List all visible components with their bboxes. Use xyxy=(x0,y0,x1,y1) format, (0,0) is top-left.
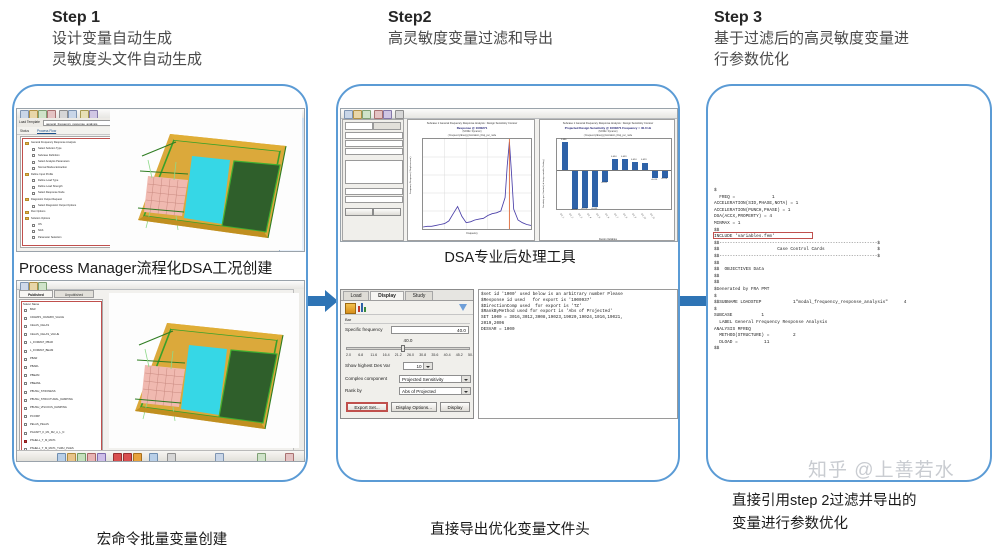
tab-load[interactable]: Load xyxy=(343,291,369,300)
show-highest-label: Show highest Des Var xyxy=(345,362,390,369)
slider-tick-label: 40.4 xyxy=(444,353,451,357)
bar-value-label: -0.014 xyxy=(661,178,667,180)
step1-heading: Step 1 设计变量自动生成 灵敏度头文件自动生成 xyxy=(52,8,202,70)
slider-tick-label: 6.8 xyxy=(358,353,363,357)
tree-checkbox[interactable] xyxy=(32,179,35,182)
solver-deck-line: $$ xyxy=(714,274,719,281)
param-item-label[interactable]: BAR xyxy=(30,308,36,312)
bar-item xyxy=(652,170,658,178)
step3-heading: Step 3 基于过滤后的高灵敏度变量进 行参数优化 xyxy=(714,8,909,70)
step2-title: Step2 xyxy=(388,8,553,28)
param-checkbox[interactable] xyxy=(24,358,27,361)
step3-caption: 直接引用step 2过滤并导出的 变量进行参数优化 xyxy=(732,490,982,536)
svg-text:DV_11: DV_11 xyxy=(649,213,655,220)
cae-body-model-bottom-svg xyxy=(109,293,299,448)
frequency-slider-track[interactable] xyxy=(346,347,470,350)
export-set-button[interactable]: Export Set... xyxy=(346,402,388,412)
svg-text:DV_1: DV_1 xyxy=(559,213,564,219)
param-item-label[interactable]: PBUSH_VISCOUS_DAMPING xyxy=(30,406,67,410)
specific-frequency-label: Specific frequency xyxy=(345,326,383,333)
dialog-divider xyxy=(344,323,470,324)
watermark: 知乎 @上善若水 xyxy=(808,455,955,482)
step1-panel: Load Template general_frequency_response… xyxy=(12,84,308,482)
solver-deck-line: $$ xyxy=(714,261,719,268)
export-text-line: $DirectionComp used for export is 'TZ' xyxy=(481,304,582,310)
tree-checkbox[interactable] xyxy=(32,236,35,239)
step2-heading: Step2 高灵敏度变量过滤和导出 xyxy=(388,8,553,49)
param-item-label[interactable]: PBEAML xyxy=(30,382,41,386)
step3-desc-line1: 基于过滤后的高灵敏度变量进 xyxy=(714,28,909,49)
export-text-pane[interactable]: $set id '1000' used below is an arbitrar… xyxy=(478,289,678,419)
param-checkbox[interactable] xyxy=(24,374,27,377)
slider-tick-label: 21.2 xyxy=(395,353,402,357)
bar-item xyxy=(562,142,568,170)
dialog-tab-bar[interactable]: Load Display Study xyxy=(341,290,473,301)
slider-tick-label: 2.0 xyxy=(346,353,351,357)
dsa-toolbar xyxy=(341,109,677,119)
bar-item xyxy=(572,170,578,209)
frf-ylabel: Frequency Response ( Displacement ) xyxy=(410,157,412,194)
param-item-label[interactable]: PBUSH_STRUCTURAL_DAMPING xyxy=(30,398,73,402)
solver-deck-pane[interactable]: $ FREQ = 1ACCELERATION(SID,PHASE,NOTA) =… xyxy=(712,186,990,376)
export-text-line: SET 1000 = 3016,3012,3008,19023,19020,19… xyxy=(481,315,623,321)
step1-model-viewport-bottom xyxy=(109,293,299,448)
solver-deck-line: LABEL General Frequency Response Analysi… xyxy=(714,320,827,327)
bar-ylabel: Sensitivity per (Gradient) of design var… xyxy=(543,159,545,208)
param-item-label[interactable]: CELAS_CELAS xyxy=(30,324,49,328)
tree-item-label[interactable]: Define Load Strength xyxy=(38,185,63,189)
show-highest-combo[interactable]: 10 xyxy=(403,362,433,370)
step1-desc-line1: 设计变量自动生成 xyxy=(52,28,202,49)
complex-component-label: Complex component xyxy=(345,375,387,382)
display-button[interactable]: Display xyxy=(440,402,470,412)
param-checkbox[interactable] xyxy=(24,382,27,385)
svg-text:DV_2: DV_2 xyxy=(568,213,573,219)
pm-tab-status[interactable]: Status xyxy=(20,128,29,134)
rank-by-value: Abs of Projected xyxy=(402,389,436,394)
tree-item-label[interactable]: Parameter Selection xyxy=(38,236,62,240)
bar-zero-axis xyxy=(557,170,671,171)
tree-checkbox[interactable] xyxy=(32,230,35,233)
slider-tick-label: 26.0 xyxy=(407,353,414,357)
tree-item-label[interactable]: General Frequency Response Analysis xyxy=(31,141,76,145)
include-line-highlight-box xyxy=(713,232,813,239)
solver-deck-line: MINMAX = 1 xyxy=(714,221,740,228)
bar-plot-area: 0.086-0.072-0.070-0.069-0.0220.0340.0330… xyxy=(556,138,672,210)
bar-item xyxy=(642,163,648,170)
tree-checkbox[interactable] xyxy=(32,192,35,195)
slider-value-label: 40.0 xyxy=(341,337,474,344)
solver-deck-line: $$ Case Control Cards $ xyxy=(714,247,880,254)
bar-item xyxy=(632,162,638,170)
param-checkbox[interactable] xyxy=(24,350,27,353)
solver-deck-line: ACCELERATION(SID,PHASE,NOTA) = 1 xyxy=(714,201,798,208)
pm-tab-process-flow[interactable]: Process Flow xyxy=(37,128,56,134)
macro-variable-screenshot: Published Unpublished Solver Name BARCDA… xyxy=(16,280,305,462)
tree-checkbox[interactable] xyxy=(32,161,35,164)
bar-value-label: -0.015 xyxy=(651,179,657,181)
svg-text:DV_6: DV_6 xyxy=(604,213,609,219)
tree-item-label[interactable]: Run Options xyxy=(31,210,45,214)
param-item-label[interactable]: PELAS_PELAS xyxy=(30,423,49,427)
tree-item-label[interactable]: Select Analysis Parameters xyxy=(38,160,70,164)
tree-item-label[interactable]: Diagnostic Output Request xyxy=(31,198,62,202)
tree-folder-icon xyxy=(25,217,29,220)
solver-deck-line: $ xyxy=(714,307,717,314)
solver-deck-line: ANALYSIS MFREQ xyxy=(714,327,751,334)
step3-title: Step 3 xyxy=(714,8,909,28)
macro-bottom-toolbar[interactable] xyxy=(17,450,304,461)
tree-folder-icon xyxy=(25,211,29,214)
macro-list-column-header: Solver Name xyxy=(23,302,39,306)
param-checkbox[interactable] xyxy=(24,333,27,336)
param-checkbox[interactable] xyxy=(24,440,27,443)
tree-checkbox[interactable] xyxy=(32,148,35,151)
solver-deck-line: SUBCASE 1 xyxy=(714,313,764,320)
rank-by-combo[interactable]: Abs of Projected xyxy=(399,387,471,395)
step2-desc-line1: 高灵敏度变量过滤和导出 xyxy=(388,28,553,49)
step1-title: Step 1 xyxy=(52,8,202,28)
step3-panel: $ FREQ = 1ACCELERATION(SID,PHASE,NOTA) =… xyxy=(706,84,992,482)
frf-xlabel: Frequency xyxy=(408,232,535,235)
bar-item xyxy=(622,159,628,170)
param-checkbox[interactable] xyxy=(24,366,27,369)
export-text-line: 2019,2006 xyxy=(481,321,504,327)
svg-text:DV_5: DV_5 xyxy=(595,213,600,219)
svg-text:DV_7: DV_7 xyxy=(613,213,618,219)
sensitivity-bar-chart: Subcase 1 General Frequency Response Ana… xyxy=(539,119,675,241)
frequency-slider-ticks: 2.06.811.616.421.226.030.835.640.445.250… xyxy=(341,353,474,359)
param-item-label[interactable]: CELAS_CELAS_VALUE xyxy=(30,333,59,337)
tree-item-label[interactable]: Define Input Profile xyxy=(31,173,53,177)
dialog-icon-strip[interactable] xyxy=(341,301,473,315)
param-item-label[interactable]: L_FORMAT_PBAR xyxy=(30,341,53,345)
tree-item-label[interactable]: Select Solution Type xyxy=(38,147,62,151)
tree-folder-icon xyxy=(25,173,29,176)
step1-desc-line2: 灵敏度头文件自动生成 xyxy=(52,49,202,70)
slider-tick-label: 50.0 xyxy=(468,353,474,357)
solver-deck-line: $ xyxy=(714,294,717,301)
step1-model-viewport-top xyxy=(110,110,302,250)
step2-bottom-caption: 直接导出优化变量文件头 xyxy=(338,520,682,541)
bar-item xyxy=(612,159,618,170)
tree-folder-icon xyxy=(25,142,29,145)
slider-tick-label: 45.2 xyxy=(456,353,463,357)
dsa-postprocessor-screenshot: Subcase 1 General Frequency Response Ana… xyxy=(340,108,678,242)
bar-item xyxy=(662,170,668,178)
export-text-line: $RankByMethod used for export is 'Abs of… xyxy=(481,309,613,315)
bar-series: 0.086-0.072-0.070-0.069-0.0220.0340.0330… xyxy=(557,139,671,209)
multi-color-chart-icon[interactable] xyxy=(358,303,367,312)
macro-param-list[interactable]: Solver Name BARCDAMP1_CDAMP2_VALUECELAS_… xyxy=(19,299,103,455)
pm-load-template-label: Load Template xyxy=(19,119,40,126)
bar-chart-icon[interactable] xyxy=(345,303,356,314)
tree-checkbox[interactable] xyxy=(32,154,35,157)
tab-study[interactable]: Study xyxy=(405,291,433,300)
slider-tick-label: 16.4 xyxy=(383,353,390,357)
param-item-label[interactable]: PBARL xyxy=(30,365,39,369)
param-checkbox[interactable] xyxy=(24,432,27,435)
tree-item-label[interactable]: Normal Modes Extraction xyxy=(38,166,67,170)
bar-value-label: 0.086 xyxy=(561,139,566,141)
export-text-line: $set id '1000' used below is an arbitrar… xyxy=(481,292,623,298)
bar-item xyxy=(602,170,608,182)
frf-chart: Subcase 1 General Frequency Response Ana… xyxy=(407,119,535,241)
bar-item xyxy=(592,170,598,207)
tree-item-label[interactable]: OS xyxy=(38,223,42,227)
bar-title-sub2: ( Frequency/Energy) Excitation_Disp_per_… xyxy=(540,134,675,138)
tree-item-label[interactable]: Subcase Definition xyxy=(38,154,60,158)
step1-top-caption: Process Manager流程化DSA工况创建 xyxy=(19,258,305,279)
tree-item-label[interactable]: Select Diagnostic Output Options xyxy=(38,204,76,208)
bar-item xyxy=(582,170,588,208)
step2-panel: Subcase 1 General Frequency Response Ana… xyxy=(336,84,680,482)
param-checkbox[interactable] xyxy=(24,317,27,320)
param-checkbox[interactable] xyxy=(24,423,27,426)
tree-folder-icon xyxy=(25,198,29,201)
bar-xlabel: Design Variables xyxy=(540,238,675,241)
frf-plot-svg xyxy=(423,139,531,229)
param-checkbox[interactable] xyxy=(24,399,27,402)
slider-tick-label: 35.6 xyxy=(431,353,438,357)
tree-checkbox[interactable] xyxy=(32,224,35,227)
export-text-line: DESVAR = 1000 xyxy=(481,327,515,333)
solver-deck-line: $$--------------------------------------… xyxy=(714,254,880,261)
frequency-slider-knob[interactable] xyxy=(401,345,405,352)
solver-deck-line: METHOD(STRUCTURE) = 2 xyxy=(714,333,796,340)
macro-tab-unpublished[interactable]: Unpublished xyxy=(54,290,94,298)
macro-tabs[interactable]: Published Unpublished xyxy=(19,290,104,298)
step1-bottom-caption: 宏命令批量变量创建 xyxy=(14,530,310,551)
tree-item-label[interactable]: Select Response Node xyxy=(38,191,65,195)
export-text-line: $Response id used for export is '1000937… xyxy=(481,298,592,304)
svg-text:DV_4: DV_4 xyxy=(586,213,591,219)
param-checkbox[interactable] xyxy=(24,391,27,394)
solver-deck-line: $$ OBJECTIVES Data xyxy=(714,267,764,274)
svg-text:DV_8: DV_8 xyxy=(622,213,627,219)
step3-caption-line2: 变量进行参数优化 xyxy=(732,516,848,532)
param-checkbox[interactable] xyxy=(24,325,27,328)
dialog-bar-label: Bar xyxy=(345,316,351,323)
svg-text:DV_3: DV_3 xyxy=(577,213,582,219)
frf-plot-area xyxy=(422,138,532,230)
param-checkbox[interactable] xyxy=(24,415,27,418)
macro-tab-published[interactable]: Published xyxy=(19,290,53,298)
cae-body-model-top-svg xyxy=(110,110,302,250)
bar-value-label: 0.024 xyxy=(631,159,636,161)
slider-tick-label: 11.6 xyxy=(370,353,377,357)
tree-checkbox[interactable] xyxy=(32,186,35,189)
bar-value-label: 0.033 xyxy=(621,156,626,158)
solver-deck-line: FREQ = 1 xyxy=(714,195,775,202)
param-checkbox[interactable] xyxy=(24,407,27,410)
param-checkbox[interactable] xyxy=(24,309,27,312)
tree-checkbox[interactable] xyxy=(32,167,35,170)
bar-value-label: 0.023 xyxy=(641,159,646,161)
specific-frequency-input[interactable]: 40.0 xyxy=(391,326,469,334)
tree-item-label[interactable]: Define Load Type xyxy=(38,179,58,183)
tree-checkbox[interactable] xyxy=(32,205,35,208)
bar-value-label: 0.034 xyxy=(611,156,616,158)
param-item-label[interactable]: PBAR xyxy=(30,357,37,361)
tab-display[interactable]: Display xyxy=(370,291,404,300)
workflow-diagram: Step 1 设计变量自动生成 灵敏度头文件自动生成 Step2 高灵敏度变量过… xyxy=(0,0,998,506)
solver-deck-line: DSA(ACCX,PROPERTY) = 4 xyxy=(714,214,772,221)
param-item-label[interactable]: L_FORMAT_BEAM xyxy=(30,349,53,353)
frf-title-sub2: ( Frequency/Energy) Excitation_Disp_per_… xyxy=(408,134,535,138)
param-item-label[interactable]: PSHELL_T_M_MAT1 xyxy=(30,439,56,443)
show-highest-value: 10 xyxy=(416,364,421,369)
param-item-label[interactable]: CDAMP1_CDAMP2_VALUE xyxy=(30,316,64,320)
rank-by-label: Rank by xyxy=(345,387,362,394)
complex-component-combo[interactable]: Projected Sensitivity xyxy=(399,375,471,383)
solver-deck-line: $$SUBNAME LOADSTEP 1"modal_frequency_res… xyxy=(714,300,906,307)
param-checkbox[interactable] xyxy=(24,341,27,344)
solver-deck-line: DLOAD = 11 xyxy=(714,340,769,347)
svg-text:DV_9: DV_9 xyxy=(631,213,636,219)
solver-deck-line: $Generated by FRA PMT xyxy=(714,287,769,294)
tree-item-label[interactable]: NAS xyxy=(38,229,43,233)
macro-toolbar xyxy=(17,281,304,290)
step3-desc-line2: 行参数优化 xyxy=(714,49,909,70)
solver-deck-line: $ xyxy=(714,188,717,195)
slider-tick-label: 30.8 xyxy=(419,353,426,357)
display-dialog[interactable]: Load Display Study Bar Specific frequenc… xyxy=(340,289,474,419)
tree-item-label[interactable]: Solution Options xyxy=(31,217,50,221)
step2-top-caption: DSA专业后处理工具 xyxy=(338,248,682,269)
bar-value-label: -0.022 xyxy=(601,182,607,184)
filter-funnel-icon[interactable] xyxy=(459,304,467,311)
solver-deck-line: $$ xyxy=(714,346,719,353)
solver-deck-line: $$--------------------------------------… xyxy=(714,241,880,248)
svg-text:DV_10: DV_10 xyxy=(640,213,646,220)
param-item-label[interactable]: PGASPT_K_M1_M2_A_L_N xyxy=(30,431,64,435)
bar-category-labels: DV_1 DV_2 DV_3 DV_4 DV_5 DV_6 DV_7 DV_8 … xyxy=(540,210,675,240)
step3-caption-line1: 直接引用step 2过滤并导出的 xyxy=(732,493,917,509)
param-item-label[interactable]: PBEAM xyxy=(30,374,39,378)
solver-deck-line: $$ xyxy=(714,280,719,287)
param-item-label[interactable]: PBUSH_STIFFNESS xyxy=(30,390,56,394)
dsa-left-controls[interactable] xyxy=(342,119,404,241)
display-options-button[interactable]: Display Options... xyxy=(391,402,437,412)
complex-component-value: Projected Sensitivity xyxy=(402,377,443,382)
solver-deck-line: ACCELERATION(PUNCH,PHASE) = 1 xyxy=(714,208,790,215)
param-item-label[interactable]: PCOMP xyxy=(30,415,40,419)
